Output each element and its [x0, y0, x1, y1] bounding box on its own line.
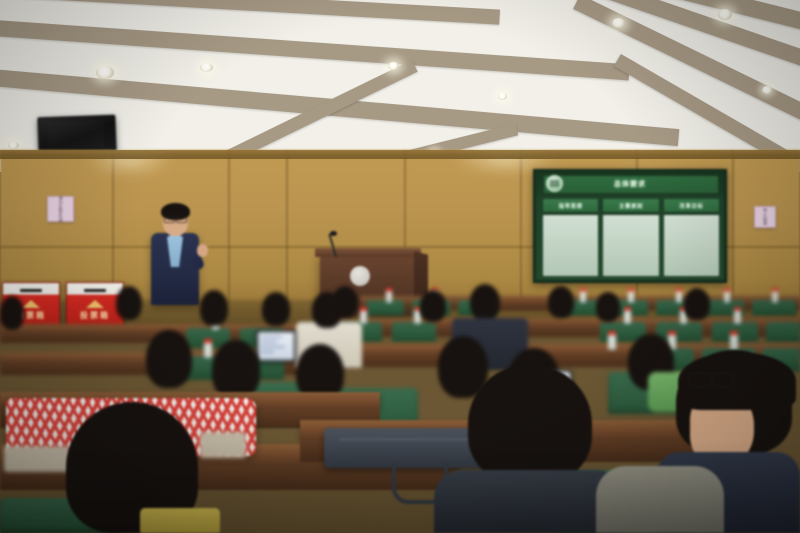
slide-card-heading: 主要原则 [619, 202, 643, 210]
projection-screen: 总体要求 指导思想 主要原则 [533, 169, 727, 283]
presenter-hand [197, 244, 208, 257]
eyeglasses-icon [164, 216, 187, 222]
wall-sign-right-text: 禁止吸烟 [763, 208, 767, 226]
slide-card: 改革目标 [664, 199, 719, 276]
slide-cards: 指导思想 主要原则 改革目标 [543, 199, 719, 276]
presenter-shirt [167, 233, 183, 267]
eyeglasses-icon [688, 372, 734, 386]
wall-sign-left-text: 请勿乱贴乱画 [58, 196, 62, 222]
slide-card-body [603, 215, 658, 276]
slide-card: 指导思想 [543, 199, 598, 276]
laptop [256, 330, 296, 362]
wall-sign-left: 请勿乱贴乱画 [47, 196, 74, 222]
slide: 总体要求 指导思想 主要原则 [536, 172, 724, 280]
lecture-hall-photo: 请勿乱贴乱画 禁止吸烟 总体要求 指导思想 主要原则 [0, 0, 800, 533]
slide-card-heading: 指导思想 [559, 202, 583, 210]
scarf-fringe [4, 446, 70, 472]
slide-title: 总体要求 [536, 179, 724, 189]
microphone-head-icon [330, 231, 337, 236]
scarf-fringe [200, 432, 246, 458]
podium-crest-icon [350, 266, 370, 286]
slide-card: 主要原则 [603, 199, 658, 276]
slide-card-body [543, 215, 598, 276]
ballot-box-label: 投票箱 [67, 310, 123, 321]
wall-sign-right: 禁止吸烟 [754, 206, 776, 228]
slide-card-heading: 改革目标 [679, 202, 703, 210]
slide-card-body [664, 215, 719, 276]
ceiling [0, 0, 800, 172]
